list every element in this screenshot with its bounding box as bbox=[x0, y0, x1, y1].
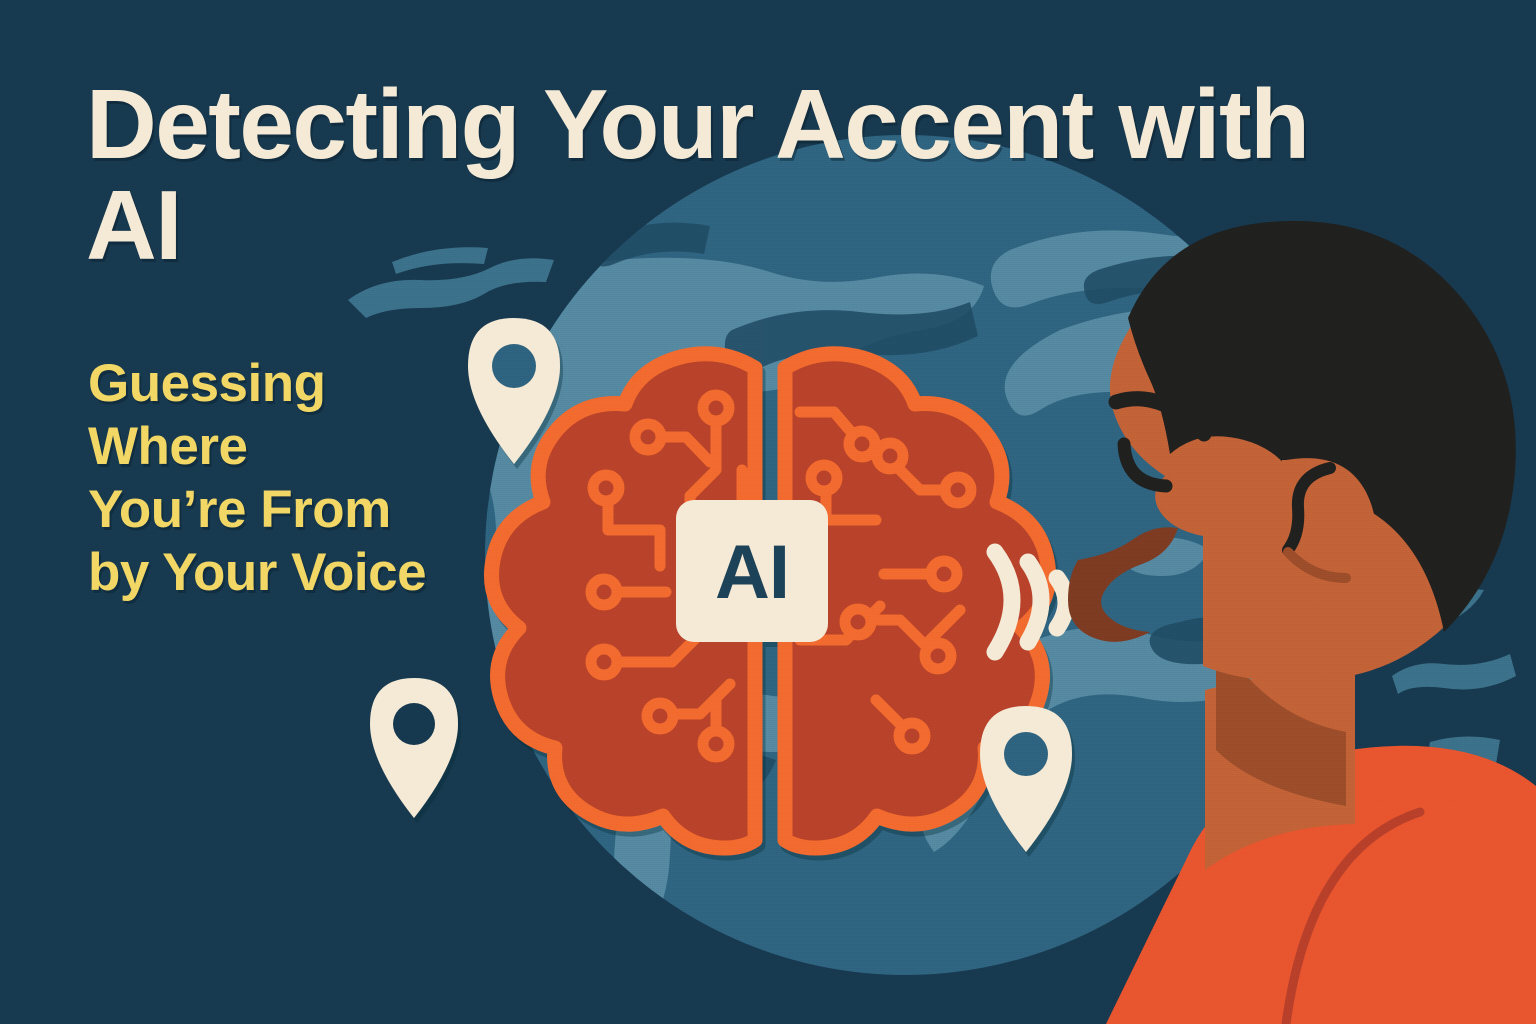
hero-illustration: AI bbox=[0, 0, 1536, 1024]
ai-badge: AI bbox=[676, 500, 828, 642]
ai-badge-label: AI bbox=[715, 530, 789, 615]
illustration-canvas: AI bbox=[0, 0, 1536, 1024]
